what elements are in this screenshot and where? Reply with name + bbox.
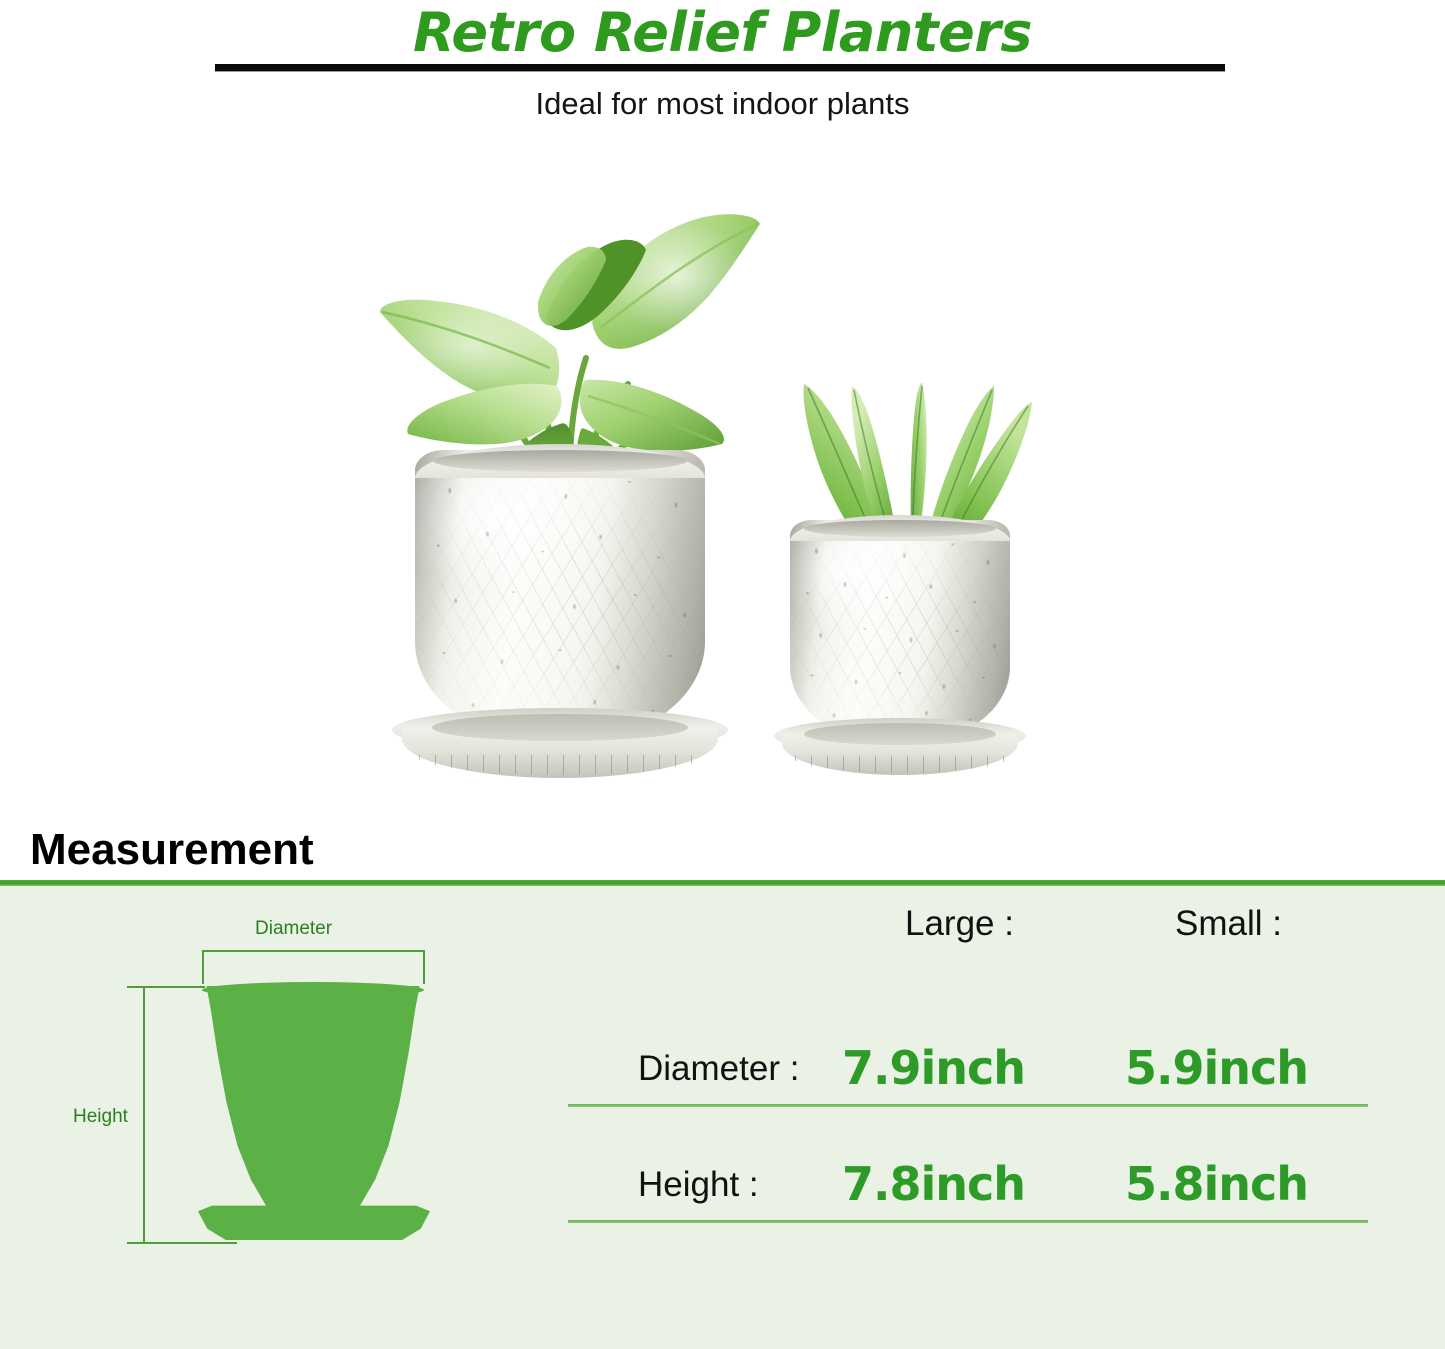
product-photo	[0, 140, 1445, 810]
height-dim-tick-top	[127, 986, 205, 988]
column-header-large: Large :	[905, 904, 1014, 944]
small-pot-rim-inner	[804, 520, 996, 537]
diameter-dim-line-horizontal	[202, 950, 425, 952]
measurement-table: Large : Small : Diameter : 7.9inch 5.9in…	[560, 886, 1445, 1349]
value-height-small: 5.8inch	[1125, 1158, 1308, 1210]
large-pot-rim-inner	[433, 450, 687, 472]
title-divider	[215, 64, 1225, 71]
height-dimension-label: Height	[73, 1106, 128, 1128]
height-dim-tick-bottom	[127, 1242, 237, 1244]
value-height-large: 7.8inch	[842, 1158, 1025, 1210]
header-banner: Retro Relief Planters Ideal for most ind…	[0, 0, 1445, 140]
pot-shading	[415, 450, 705, 740]
measurement-diagram: Diameter Height	[55, 906, 525, 1326]
small-pot-saucer	[774, 718, 1026, 780]
measurement-heading: Measurement	[30, 824, 314, 876]
height-dim-line-vertical	[143, 986, 145, 1244]
diameter-dimension-label: Diameter	[255, 918, 332, 940]
small-pot-body	[790, 520, 1010, 742]
diameter-dim-tick-left	[202, 950, 204, 984]
saucer-inner-ellipse	[804, 723, 996, 745]
diameter-dim-tick-right	[423, 950, 425, 984]
measurement-panel: Diameter Height Large : Small : Diameter…	[0, 886, 1445, 1349]
large-pot-saucer	[392, 708, 728, 784]
row-label-height: Height :	[638, 1165, 759, 1205]
diagram-pot-body	[202, 986, 424, 1228]
column-header-small: Small :	[1175, 904, 1282, 944]
large-planter-group	[360, 150, 780, 810]
saucer-chain-pattern	[416, 755, 705, 775]
table-row-divider-2	[568, 1220, 1368, 1223]
row-label-diameter: Diameter :	[638, 1049, 799, 1089]
page-subtitle: Ideal for most indoor plants	[0, 84, 1445, 124]
value-diameter-small: 5.9inch	[1125, 1042, 1308, 1094]
small-planter-group	[760, 320, 1050, 810]
value-diameter-large: 7.9inch	[842, 1042, 1025, 1094]
large-pot-body	[415, 450, 705, 740]
saucer-chain-pattern	[792, 756, 1009, 772]
table-row-divider-1	[568, 1104, 1368, 1107]
page-title: Retro Relief Planters	[0, 2, 1445, 64]
pot-shading	[790, 520, 1010, 742]
diagram-pot-saucer	[198, 1204, 430, 1244]
